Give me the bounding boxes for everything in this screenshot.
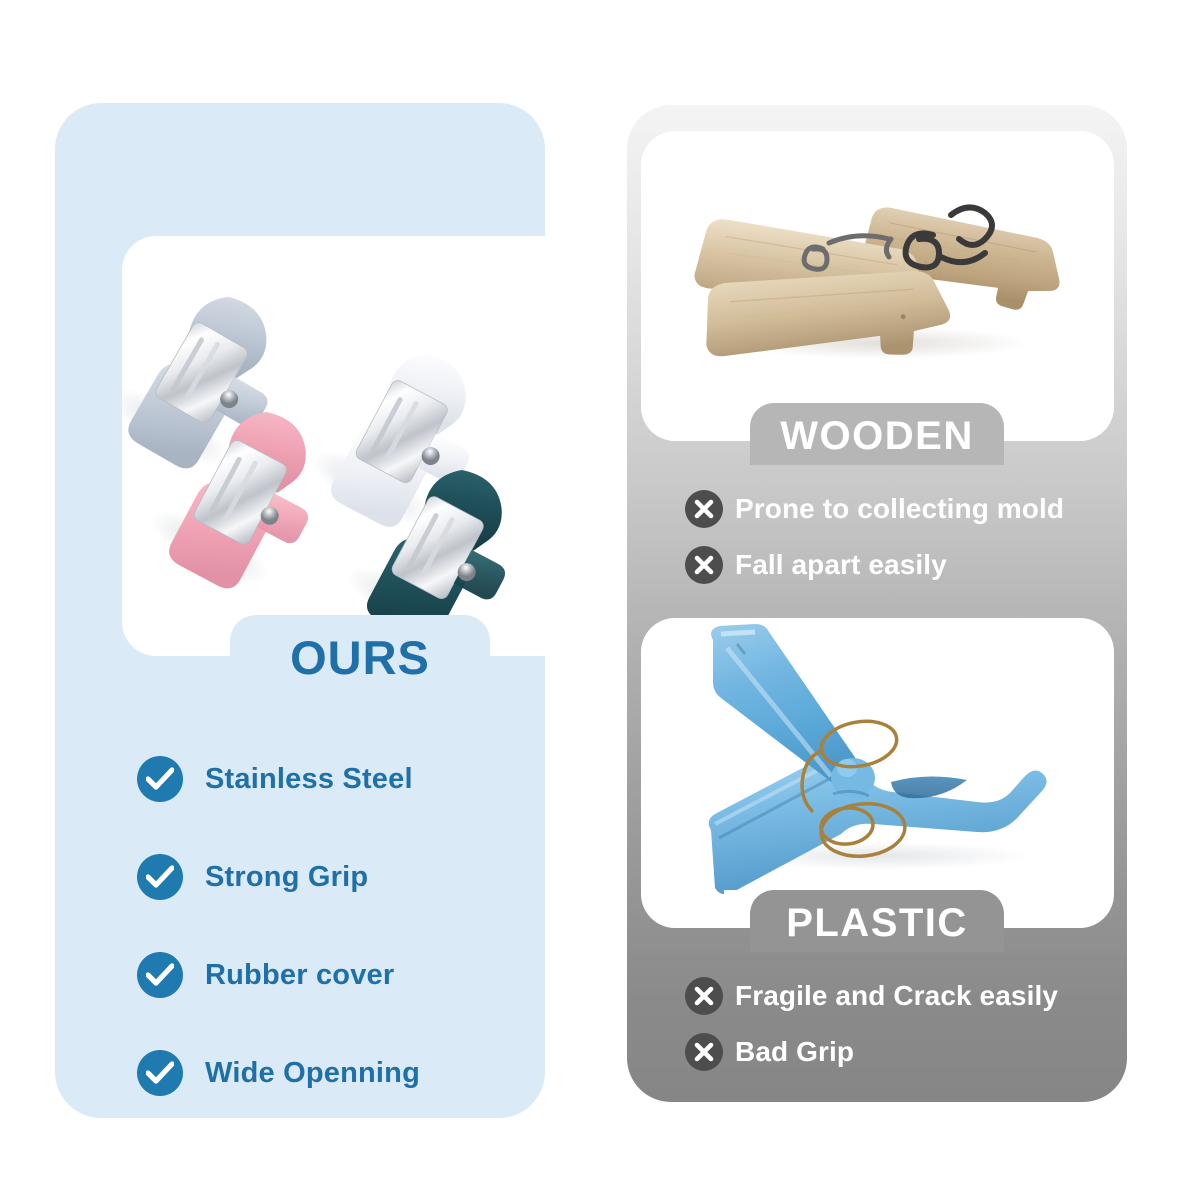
- ours-product-photo-card: [122, 236, 600, 656]
- plastic-product-photo: [641, 618, 1114, 928]
- ours-title: OURS: [290, 634, 430, 681]
- steel-clips-illustration: [122, 236, 600, 656]
- plastic-label-tab: PLASTIC: [750, 890, 1004, 952]
- comparison-infographic: OURS Stainless Steel Strong Grip Rubber: [0, 0, 1200, 1200]
- ours-panel: OURS Stainless Steel Strong Grip Rubber: [55, 103, 545, 1118]
- plastic-jaw-shadow: [891, 776, 967, 798]
- plastic-lower-arm: [709, 750, 1047, 895]
- feature-label: Rubber cover: [205, 959, 394, 992]
- check-icon: [137, 952, 183, 998]
- check-icon: [137, 854, 183, 900]
- feature-row: Wide Openning: [137, 1047, 537, 1099]
- wooden-clothespins-illustration: [641, 131, 1114, 441]
- plastic-title: PLASTIC: [786, 903, 968, 943]
- wooden-con-list: Prone to collecting mold Fall apart easi…: [685, 488, 1125, 600]
- wooden-label-tab: WOODEN: [750, 403, 1004, 465]
- check-icon: [137, 756, 183, 802]
- con-row: Bad Grip: [685, 1031, 1125, 1073]
- ours-label-tab: OURS: [230, 615, 490, 691]
- wooden-product-photo: [641, 131, 1114, 441]
- wooden-photo-card: [641, 131, 1114, 441]
- con-label: Fragile and Crack easily: [735, 980, 1058, 1012]
- ours-feature-list: Stainless Steel Strong Grip Rubber cover…: [137, 753, 537, 1145]
- con-row: Prone to collecting mold: [685, 488, 1125, 530]
- feature-label: Strong Grip: [205, 861, 368, 894]
- feature-row: Strong Grip: [137, 851, 537, 903]
- con-row: Fall apart easily: [685, 544, 1125, 586]
- x-icon: [685, 977, 723, 1015]
- check-icon: [137, 1050, 183, 1096]
- ours-product-photo: [122, 236, 600, 656]
- feature-label: Wide Openning: [205, 1057, 420, 1090]
- wooden-title: WOODEN: [780, 416, 973, 456]
- feature-row: Stainless Steel: [137, 753, 537, 805]
- plastic-clothespin-illustration: [641, 618, 1114, 928]
- feature-label: Stainless Steel: [205, 763, 413, 796]
- feature-row: Rubber cover: [137, 949, 537, 1001]
- con-row: Fragile and Crack easily: [685, 975, 1125, 1017]
- con-label: Fall apart easily: [735, 549, 947, 581]
- x-icon: [685, 546, 723, 584]
- x-icon: [685, 490, 723, 528]
- competitors-panel: WOODEN Prone to collecting mold Fall apa…: [627, 105, 1127, 1102]
- plastic-con-list: Fragile and Crack easily Bad Grip: [685, 975, 1125, 1087]
- plastic-photo-card: [641, 618, 1114, 928]
- con-label: Bad Grip: [735, 1036, 854, 1068]
- con-label: Prone to collecting mold: [735, 493, 1064, 525]
- x-icon: [685, 1033, 723, 1071]
